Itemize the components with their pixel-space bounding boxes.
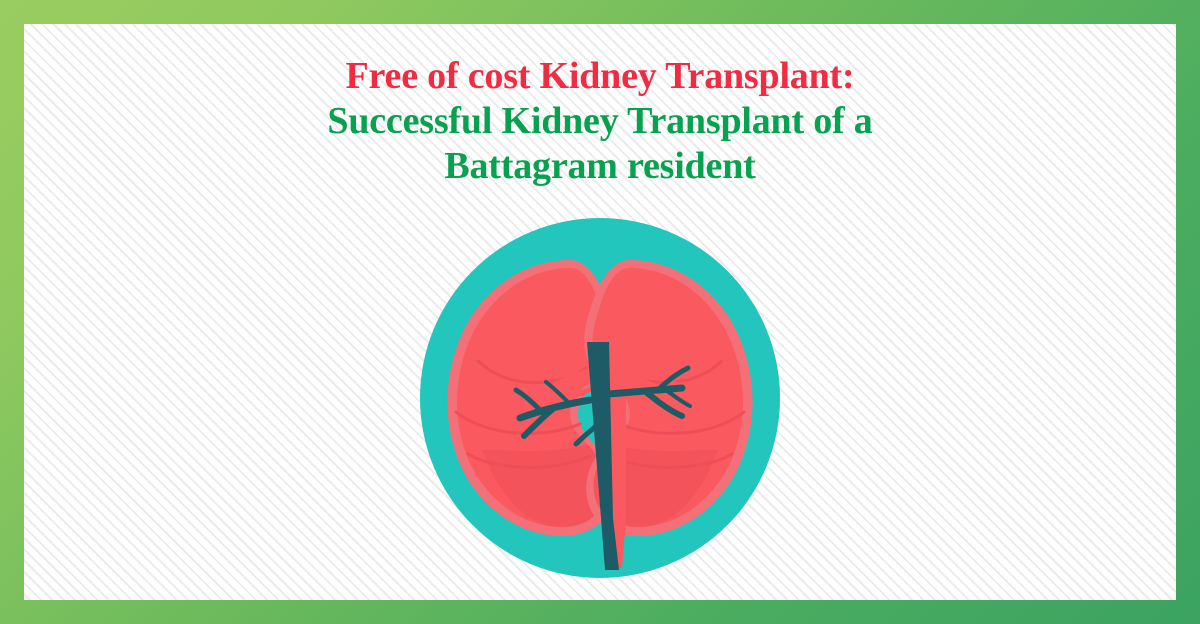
headline-line-1: Free of cost Kidney Transplant: (24, 54, 1176, 99)
headline-line-3: Battagram resident (24, 144, 1176, 189)
banner-frame: Free of cost Kidney Transplant: Successf… (0, 0, 1200, 624)
page-title: Free of cost Kidney Transplant: Successf… (24, 54, 1176, 188)
banner-canvas: Free of cost Kidney Transplant: Successf… (24, 24, 1176, 600)
headline-line-2: Successful Kidney Transplant of a (24, 99, 1176, 144)
kidneys-illustration (420, 218, 780, 578)
kidneys-svg (420, 218, 780, 578)
